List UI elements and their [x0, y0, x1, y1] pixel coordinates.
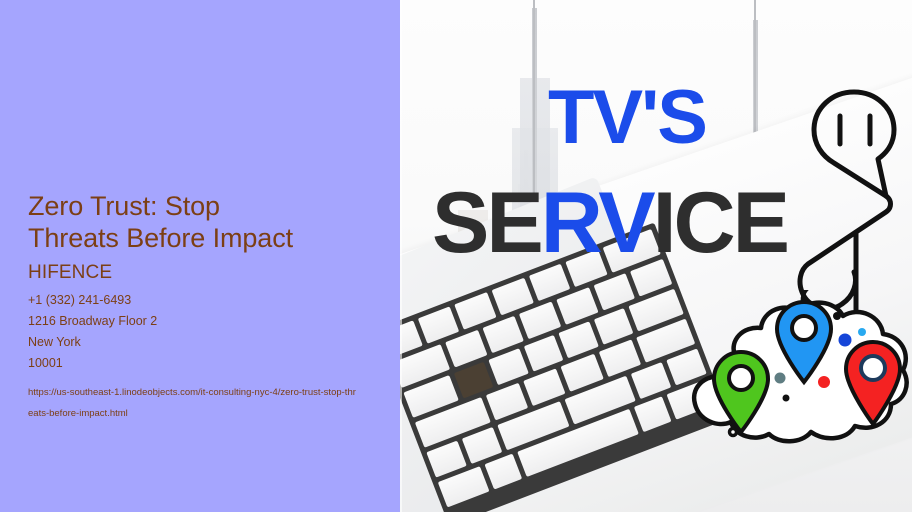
- contact-phone[interactable]: +1 (332) 241-6493: [28, 290, 368, 311]
- info-text-block: Zero Trust: Stop Threats Before Impact H…: [28, 190, 368, 424]
- left-info-panel: Zero Trust: Stop Threats Before Impact H…: [0, 0, 400, 512]
- contact-postal-code: 10001: [28, 353, 368, 374]
- page-title: Zero Trust: Stop Threats Before Impact: [28, 190, 368, 254]
- dot-slate: [775, 373, 786, 384]
- dot-red: [818, 376, 830, 388]
- site-url-link[interactable]: https://us-southeast-1.linodeobjects.com…: [28, 382, 358, 424]
- dot-blue: [839, 334, 852, 347]
- dot-small-black: [783, 395, 790, 402]
- cloud-with-map-pins: [685, 290, 912, 450]
- contact-city: New York: [28, 332, 368, 353]
- hero-segment-se: SE: [432, 175, 541, 271]
- promo-image-panel: TV'S SERVICE: [400, 0, 912, 512]
- dot-black: [833, 312, 841, 320]
- dot-lightblue: [858, 328, 866, 336]
- hero-segment-rv: RV: [541, 175, 653, 271]
- hero-headline-line2: SERVICE: [432, 180, 787, 266]
- brand-name: HIFENCE: [28, 262, 368, 284]
- contact-street: 1216 Broadway Floor 2: [28, 311, 368, 332]
- page-root: Zero Trust: Stop Threats Before Impact H…: [0, 0, 912, 512]
- hero-segment-ice: ICE: [653, 175, 787, 271]
- hero-headline-line1: TV'S: [548, 80, 706, 156]
- panel-seam: [400, 0, 402, 512]
